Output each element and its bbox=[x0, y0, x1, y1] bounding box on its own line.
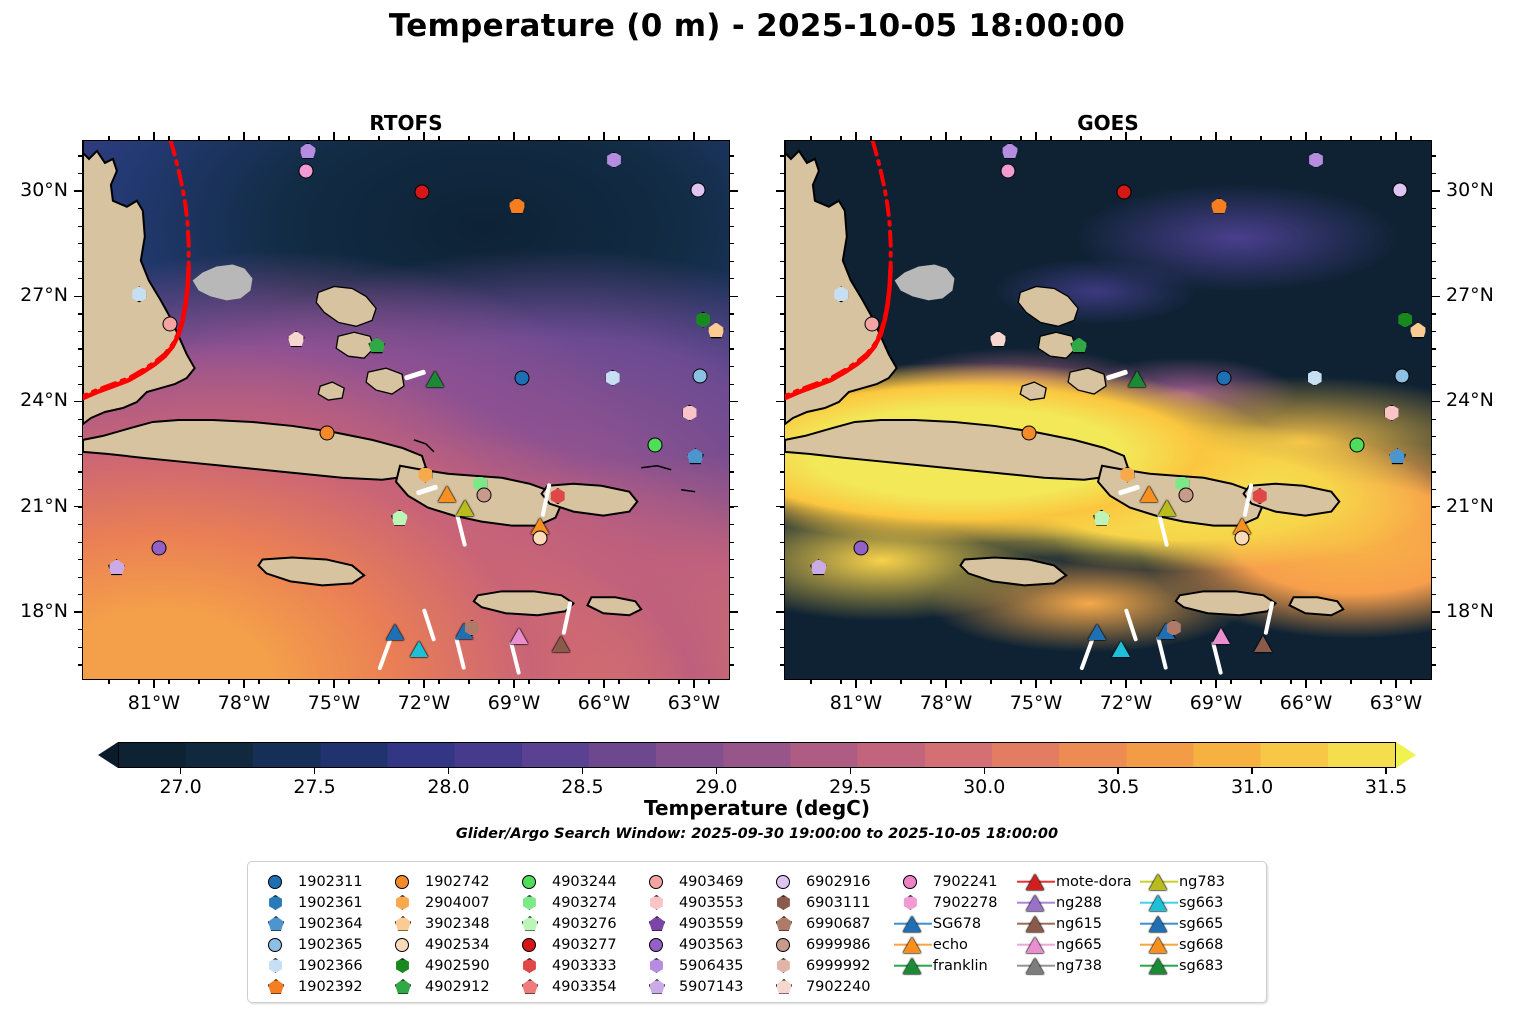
map-marker-franklin[interactable] bbox=[426, 371, 444, 387]
glider-marker-icon bbox=[1016, 893, 1056, 913]
map-marker-ng665[interactable] bbox=[510, 628, 528, 644]
xtick-minor bbox=[1290, 680, 1291, 684]
ytick-minor-right bbox=[1432, 419, 1436, 420]
map-marker-1902366b[interactable] bbox=[605, 370, 621, 386]
ytick-minor bbox=[78, 471, 82, 472]
xtick-minor bbox=[1050, 680, 1051, 684]
xtick-label: 81°W bbox=[816, 692, 896, 714]
xtick-minor-top bbox=[558, 136, 559, 140]
xtick-minor-top bbox=[1260, 136, 1261, 140]
xtick-major-top bbox=[243, 132, 245, 140]
map-marker-1902364[interactable] bbox=[1389, 448, 1406, 464]
storm-track-rtofs bbox=[83, 141, 729, 679]
legend-item[interactable]: ng783 bbox=[1139, 871, 1262, 892]
legend-item[interactable]: sg668 bbox=[1139, 934, 1262, 955]
colorbar-tick bbox=[1117, 768, 1118, 774]
ytick-minor bbox=[78, 559, 82, 560]
ytick-minor bbox=[78, 384, 82, 385]
xtick-major-top bbox=[513, 132, 515, 140]
figure-canvas: Temperature (0 m) - 2025-10-05 18:00:00 … bbox=[0, 0, 1514, 1014]
colorbar-gradient bbox=[118, 742, 1396, 768]
map-marker-ng615[interactable] bbox=[1254, 636, 1272, 652]
ytick-label-left: 24°N bbox=[0, 389, 68, 411]
legend-item[interactable]: 4903553 bbox=[639, 892, 766, 913]
xtick-major-top bbox=[333, 132, 335, 140]
xtick-major bbox=[153, 680, 155, 688]
ytick-minor-right bbox=[730, 647, 734, 648]
ytick-minor-right bbox=[730, 612, 734, 613]
legend-item[interactable]: 5907143 bbox=[639, 976, 766, 997]
legend-item[interactable]: 5906435 bbox=[639, 955, 766, 976]
panel-title-rtofs: RTOFS bbox=[82, 111, 730, 135]
legend-item[interactable]: 7902240 bbox=[766, 976, 893, 997]
colorbar[interactable]: 27.027.528.028.529.029.530.030.531.031.5 bbox=[118, 742, 1396, 768]
ytick-minor bbox=[780, 401, 784, 402]
ytick-minor-right bbox=[730, 384, 734, 385]
ytick-minor bbox=[780, 173, 784, 174]
ytick-minor bbox=[780, 243, 784, 244]
xtick-minor bbox=[198, 680, 199, 684]
legend-item[interactable]: echo bbox=[893, 934, 1016, 955]
legend-label: franklin bbox=[933, 958, 988, 974]
legend-item[interactable]: 4903563 bbox=[639, 934, 766, 955]
xtick-minor bbox=[288, 680, 289, 684]
ytick-minor bbox=[780, 559, 784, 560]
ytick-minor-right bbox=[1432, 226, 1436, 227]
xtick-minor-top bbox=[438, 136, 439, 140]
ytick-minor bbox=[78, 226, 82, 227]
xtick-minor-top bbox=[498, 136, 499, 140]
map-marker-sg668[interactable] bbox=[438, 486, 456, 502]
legend-label: ng783 bbox=[1179, 874, 1225, 890]
ytick-minor-right bbox=[1432, 331, 1436, 332]
xtick-minor bbox=[498, 680, 499, 684]
ytick-minor bbox=[780, 348, 784, 349]
xtick-minor bbox=[138, 680, 139, 684]
map-marker-1902742[interactable] bbox=[1022, 426, 1037, 441]
ytick-minor bbox=[78, 612, 82, 613]
legend-item[interactable]: 6902916 bbox=[766, 871, 893, 892]
legend-item[interactable]: 1902311 bbox=[258, 871, 385, 892]
map-marker-1902311[interactable] bbox=[515, 370, 530, 385]
xtick-minor bbox=[648, 680, 649, 684]
float-marker-icon bbox=[512, 935, 552, 955]
ytick-minor bbox=[78, 173, 82, 174]
ytick-minor bbox=[78, 155, 82, 156]
legend-item[interactable]: 6903111 bbox=[766, 892, 893, 913]
map-marker-ng615[interactable] bbox=[552, 636, 570, 652]
map-marker-7902278[interactable] bbox=[1000, 163, 1015, 178]
map-marker-4903559[interactable] bbox=[1001, 143, 1018, 159]
legend-item[interactable]: sg683 bbox=[1139, 955, 1262, 976]
legend-item[interactable]: 4902590 bbox=[385, 955, 512, 976]
ytick-minor-right bbox=[1432, 506, 1436, 507]
ytick-label-right: 18°N bbox=[1446, 600, 1514, 622]
map-marker-3902348[interactable] bbox=[1410, 322, 1427, 338]
colorbar-tick-label: 27.0 bbox=[136, 776, 226, 798]
map-marker-4903563[interactable] bbox=[854, 541, 869, 556]
ytick-minor bbox=[78, 331, 82, 332]
xtick-minor bbox=[408, 680, 409, 684]
ytick-label-right: 30°N bbox=[1446, 179, 1514, 201]
map-marker-1902311[interactable] bbox=[1217, 370, 1232, 385]
ytick-minor-right bbox=[730, 155, 734, 156]
ytick-minor-right bbox=[730, 296, 734, 297]
glider-marker-icon bbox=[893, 935, 933, 955]
legend-label: 2904007 bbox=[425, 895, 490, 911]
xtick-minor-top bbox=[288, 136, 289, 140]
legend-item[interactable]: franklin bbox=[893, 955, 1016, 976]
ytick-minor bbox=[78, 419, 82, 420]
legend-label: sg683 bbox=[1179, 958, 1223, 974]
xtick-major bbox=[1125, 680, 1127, 688]
legend-label: 4903277 bbox=[552, 937, 617, 953]
map-marker-6999986[interactable] bbox=[1178, 488, 1193, 503]
xtick-minor-top bbox=[1050, 136, 1051, 140]
xtick-minor bbox=[960, 680, 961, 684]
legend-item[interactable]: ng665 bbox=[1016, 934, 1139, 955]
map-marker-1902366b[interactable] bbox=[1307, 370, 1323, 386]
xtick-major bbox=[693, 680, 695, 688]
legend-item[interactable]: 4903354 bbox=[512, 976, 639, 997]
ytick-minor bbox=[78, 208, 82, 209]
legend-label: 5906435 bbox=[679, 958, 744, 974]
legend-item[interactable]: 4903276 bbox=[512, 913, 639, 934]
legend-label: SG678 bbox=[933, 916, 981, 932]
legend-label: mote-dora bbox=[1056, 874, 1132, 890]
xtick-label: 78°W bbox=[906, 692, 986, 714]
map-marker-5906435[interactable] bbox=[1308, 152, 1324, 168]
map-marker-6903111[interactable] bbox=[1166, 620, 1182, 636]
float-marker-icon bbox=[258, 914, 298, 934]
legend-item[interactable]: 6999992 bbox=[766, 955, 893, 976]
legend-item[interactable]: 1902366 bbox=[258, 955, 385, 976]
map-marker-ng783[interactable] bbox=[456, 500, 474, 516]
map-marker-sg665[interactable] bbox=[1088, 624, 1106, 640]
map-marker-4903559[interactable] bbox=[299, 143, 316, 159]
legend-item[interactable]: 1902742 bbox=[385, 871, 512, 892]
float-marker-icon bbox=[639, 914, 679, 934]
map-marker-sg665[interactable] bbox=[386, 624, 404, 640]
map-marker-ng665[interactable] bbox=[1212, 628, 1230, 644]
map-marker-4903244[interactable] bbox=[1349, 437, 1364, 452]
float-marker-icon bbox=[766, 977, 806, 997]
float-marker-icon bbox=[512, 914, 552, 934]
storm-track-goes bbox=[785, 141, 1431, 679]
xtick-minor-top bbox=[228, 136, 229, 140]
ytick-minor-right bbox=[1432, 594, 1436, 595]
float-marker-icon bbox=[385, 893, 425, 913]
map-marker-1902742[interactable] bbox=[320, 426, 335, 441]
legend-item[interactable]: 1902392 bbox=[258, 976, 385, 997]
map-marker-1902366[interactable] bbox=[131, 286, 147, 302]
xtick-major bbox=[243, 680, 245, 688]
map-marker-4903276[interactable] bbox=[1093, 510, 1110, 526]
map-marker-1902364[interactable] bbox=[687, 448, 704, 464]
legend-label: 6903111 bbox=[806, 895, 871, 911]
xtick-minor bbox=[438, 680, 439, 684]
ytick-minor bbox=[780, 261, 784, 262]
ytick-minor bbox=[780, 506, 784, 507]
ytick-minor bbox=[78, 506, 82, 507]
xtick-minor bbox=[528, 680, 529, 684]
ytick-minor-right bbox=[730, 664, 734, 665]
legend-item[interactable]: mote-dora bbox=[1016, 871, 1139, 892]
xtick-minor-top bbox=[108, 136, 109, 140]
map-marker-ng783[interactable] bbox=[1158, 500, 1176, 516]
map-marker-5907143[interactable] bbox=[810, 559, 827, 575]
xtick-minor bbox=[1260, 680, 1261, 684]
float-marker-icon bbox=[385, 914, 425, 934]
ytick-minor-right bbox=[1432, 278, 1436, 279]
legend-item[interactable]: 3902348 bbox=[385, 913, 512, 934]
ytick-minor bbox=[780, 331, 784, 332]
xtick-label: 75°W bbox=[294, 692, 374, 714]
xtick-minor-top bbox=[648, 136, 649, 140]
xtick-label: 63°W bbox=[654, 692, 734, 714]
ytick-minor-right bbox=[1432, 313, 1436, 314]
colorbar-tick bbox=[582, 768, 583, 774]
legend-column-2: 4903244490327449032764903277490333349033… bbox=[512, 871, 639, 998]
ytick-minor bbox=[780, 384, 784, 385]
legend-item[interactable]: sg663 bbox=[1139, 892, 1262, 913]
float-marker-icon bbox=[893, 893, 933, 913]
ytick-minor bbox=[780, 454, 784, 455]
xtick-minor bbox=[588, 680, 589, 684]
xtick-minor-top bbox=[168, 136, 169, 140]
legend-item[interactable]: ng615 bbox=[1016, 913, 1139, 934]
ytick-minor-right bbox=[730, 401, 734, 402]
xtick-minor bbox=[708, 680, 709, 684]
legend-label: 6902916 bbox=[806, 874, 871, 890]
map-marker-sg668[interactable] bbox=[1140, 486, 1158, 502]
xtick-minor bbox=[228, 680, 229, 684]
xtick-minor-top bbox=[1080, 136, 1081, 140]
legend-label: 1902392 bbox=[298, 979, 363, 995]
ytick-minor-right bbox=[730, 542, 734, 543]
ytick-minor bbox=[780, 542, 784, 543]
xtick-minor bbox=[870, 680, 871, 684]
xtick-minor-top bbox=[1020, 136, 1021, 140]
ytick-minor bbox=[78, 436, 82, 437]
ytick-minor-right bbox=[1432, 629, 1436, 630]
legend-item[interactable]: 1902364 bbox=[258, 913, 385, 934]
colorbar-tick-label: 30.5 bbox=[1073, 776, 1163, 798]
map-marker-1902366[interactable] bbox=[833, 286, 849, 302]
legend-label: 4903244 bbox=[552, 874, 617, 890]
legend-label: echo bbox=[933, 937, 968, 953]
legend-label: sg668 bbox=[1179, 937, 1223, 953]
legend-label: 4903469 bbox=[679, 874, 744, 890]
float-marker-icon bbox=[385, 977, 425, 997]
ytick-minor bbox=[780, 577, 784, 578]
legend-column-6: mote-dorang288ng615ng665ng738 bbox=[1016, 871, 1139, 998]
map-marker-4902912[interactable] bbox=[1070, 337, 1087, 353]
ytick-minor bbox=[78, 629, 82, 630]
xtick-minor-top bbox=[198, 136, 199, 140]
float-marker-icon bbox=[258, 935, 298, 955]
xtick-major bbox=[603, 680, 605, 688]
map-marker-2904007[interactable] bbox=[1119, 467, 1135, 483]
colorbar-tick bbox=[314, 768, 315, 774]
ytick-minor bbox=[78, 296, 82, 297]
xtick-minor-top bbox=[1200, 136, 1201, 140]
legend-item[interactable]: sg665 bbox=[1139, 913, 1262, 934]
map-marker-4903563[interactable] bbox=[152, 541, 167, 556]
ytick-label-right: 24°N bbox=[1446, 389, 1514, 411]
xtick-minor bbox=[990, 680, 991, 684]
legend-item[interactable]: 6990687 bbox=[766, 913, 893, 934]
legend-item[interactable]: 4903244 bbox=[512, 871, 639, 892]
map-marker-franklin[interactable] bbox=[1128, 371, 1146, 387]
map-marker-sg663[interactable] bbox=[1112, 641, 1130, 657]
float-marker-icon bbox=[639, 935, 679, 955]
xtick-major bbox=[1395, 680, 1397, 688]
glider-marker-icon bbox=[893, 914, 933, 934]
map-marker-4903469[interactable] bbox=[162, 316, 177, 331]
legend-column-7: ng783sg663sg665sg668sg683 bbox=[1139, 871, 1262, 998]
ytick-minor bbox=[78, 594, 82, 595]
map-panel-rtofs[interactable] bbox=[82, 140, 730, 680]
colorbar-tick-label: 29.5 bbox=[805, 776, 895, 798]
map-marker-5906435[interactable] bbox=[606, 152, 622, 168]
xtick-major-top bbox=[855, 132, 857, 140]
legend-label: ng665 bbox=[1056, 937, 1102, 953]
legend-label: 3902348 bbox=[425, 916, 490, 932]
xtick-minor-top bbox=[810, 136, 811, 140]
xtick-minor bbox=[1170, 680, 1171, 684]
map-marker-4903333[interactable] bbox=[550, 488, 566, 504]
ytick-minor-right bbox=[730, 454, 734, 455]
xtick-label: 72°W bbox=[1086, 692, 1166, 714]
map-marker-5907143[interactable] bbox=[108, 559, 125, 575]
legend-item[interactable]: 4903469 bbox=[639, 871, 766, 892]
map-marker-4902534[interactable] bbox=[1235, 530, 1250, 545]
ytick-minor-right bbox=[1432, 401, 1436, 402]
ytick-minor bbox=[780, 226, 784, 227]
map-marker-1902392[interactable] bbox=[509, 198, 526, 214]
colorbar-tick-label: 29.0 bbox=[671, 776, 761, 798]
map-marker-6902916[interactable] bbox=[1392, 183, 1407, 198]
legend-item[interactable]: 4903277 bbox=[512, 934, 639, 955]
map-marker-4903277[interactable] bbox=[415, 184, 430, 199]
ytick-minor-right bbox=[730, 348, 734, 349]
map-marker-4902912[interactable] bbox=[368, 337, 385, 353]
float-marker-icon bbox=[639, 956, 679, 976]
map-marker-1902365[interactable] bbox=[692, 369, 707, 384]
legend-label: ng615 bbox=[1056, 916, 1102, 932]
xtick-minor bbox=[1080, 680, 1081, 684]
xtick-minor bbox=[1200, 680, 1201, 684]
xtick-label: 63°W bbox=[1356, 692, 1436, 714]
ytick-minor-right bbox=[1432, 471, 1436, 472]
legend-column-1: 1902742290400739023484902534490259049029… bbox=[385, 871, 512, 998]
legend-item[interactable]: 6999986 bbox=[766, 934, 893, 955]
map-marker-1902365[interactable] bbox=[1394, 369, 1409, 384]
map-marker-4903244[interactable] bbox=[647, 437, 662, 452]
ytick-minor-right bbox=[730, 524, 734, 525]
glider-marker-icon bbox=[1016, 935, 1056, 955]
float-marker-icon bbox=[639, 977, 679, 997]
legend-label: 1902366 bbox=[298, 958, 363, 974]
map-marker-4903277[interactable] bbox=[1117, 184, 1132, 199]
legend-label: 4903553 bbox=[679, 895, 744, 911]
map-marker-6903111[interactable] bbox=[464, 620, 480, 636]
map-marker-6999986[interactable] bbox=[476, 488, 491, 503]
legend-item[interactable]: 4902534 bbox=[385, 934, 512, 955]
legend-box[interactable]: 1902311190236119023641902365190236619023… bbox=[247, 861, 1267, 1003]
ytick-minor-right bbox=[1432, 261, 1436, 262]
xtick-minor-top bbox=[588, 136, 589, 140]
ytick-minor bbox=[78, 313, 82, 314]
xtick-major-top bbox=[1305, 132, 1307, 140]
legend-item[interactable]: 4902912 bbox=[385, 976, 512, 997]
legend-item[interactable]: 4903274 bbox=[512, 892, 639, 913]
legend-item[interactable]: 4903333 bbox=[512, 955, 639, 976]
legend-item[interactable]: 1902365 bbox=[258, 934, 385, 955]
map-marker-3902348[interactable] bbox=[708, 322, 725, 338]
map-marker-4903553[interactable] bbox=[1384, 405, 1400, 421]
xtick-major bbox=[513, 680, 515, 688]
legend-label: 4903274 bbox=[552, 895, 617, 911]
float-marker-icon bbox=[766, 935, 806, 955]
legend-label: 1902364 bbox=[298, 916, 363, 932]
xtick-minor bbox=[168, 680, 169, 684]
map-marker-4903276[interactable] bbox=[391, 510, 408, 526]
ytick-minor-right bbox=[1432, 384, 1436, 385]
ytick-minor-right bbox=[730, 419, 734, 420]
map-marker-1902392[interactable] bbox=[1211, 198, 1228, 214]
map-marker-4903469[interactable] bbox=[864, 316, 879, 331]
map-marker-6902916[interactable] bbox=[690, 183, 705, 198]
map-marker-4903333[interactable] bbox=[1252, 488, 1268, 504]
ytick-minor-right bbox=[1432, 489, 1436, 490]
map-marker-4903553[interactable] bbox=[682, 405, 698, 421]
ytick-minor bbox=[780, 594, 784, 595]
map-panel-goes[interactable] bbox=[784, 140, 1432, 680]
legend-label: 4902534 bbox=[425, 937, 490, 953]
legend-item[interactable]: 4903559 bbox=[639, 913, 766, 934]
map-marker-4902534[interactable] bbox=[533, 530, 548, 545]
float-marker-icon bbox=[512, 872, 552, 892]
map-marker-7902278[interactable] bbox=[298, 163, 313, 178]
legend-item[interactable]: 7902278 bbox=[893, 892, 1016, 913]
float-marker-icon bbox=[639, 872, 679, 892]
legend-item[interactable]: ng738 bbox=[1016, 955, 1139, 976]
colorbar-tick bbox=[448, 768, 449, 774]
xtick-major bbox=[333, 680, 335, 688]
panel-title-goes: GOES bbox=[784, 111, 1432, 135]
legend-item[interactable]: ng288 bbox=[1016, 892, 1139, 913]
legend-item[interactable]: 1902361 bbox=[258, 892, 385, 913]
xtick-label: 78°W bbox=[204, 692, 284, 714]
ytick-minor-right bbox=[1432, 191, 1436, 192]
xtick-major-top bbox=[693, 132, 695, 140]
legend-item[interactable]: 2904007 bbox=[385, 892, 512, 913]
legend-item[interactable]: 7902241 bbox=[893, 871, 1016, 892]
map-marker-7902240[interactable] bbox=[288, 331, 305, 347]
xtick-label: 66°W bbox=[1266, 692, 1346, 714]
legend-label: sg665 bbox=[1179, 916, 1223, 932]
ytick-minor bbox=[78, 366, 82, 367]
map-marker-2904007[interactable] bbox=[417, 467, 433, 483]
map-marker-7902240[interactable] bbox=[990, 331, 1007, 347]
legend-item[interactable]: SG678 bbox=[893, 913, 1016, 934]
float-marker-icon bbox=[766, 914, 806, 934]
map-marker-sg663[interactable] bbox=[410, 641, 428, 657]
ytick-minor-right bbox=[730, 594, 734, 595]
ytick-minor bbox=[78, 243, 82, 244]
